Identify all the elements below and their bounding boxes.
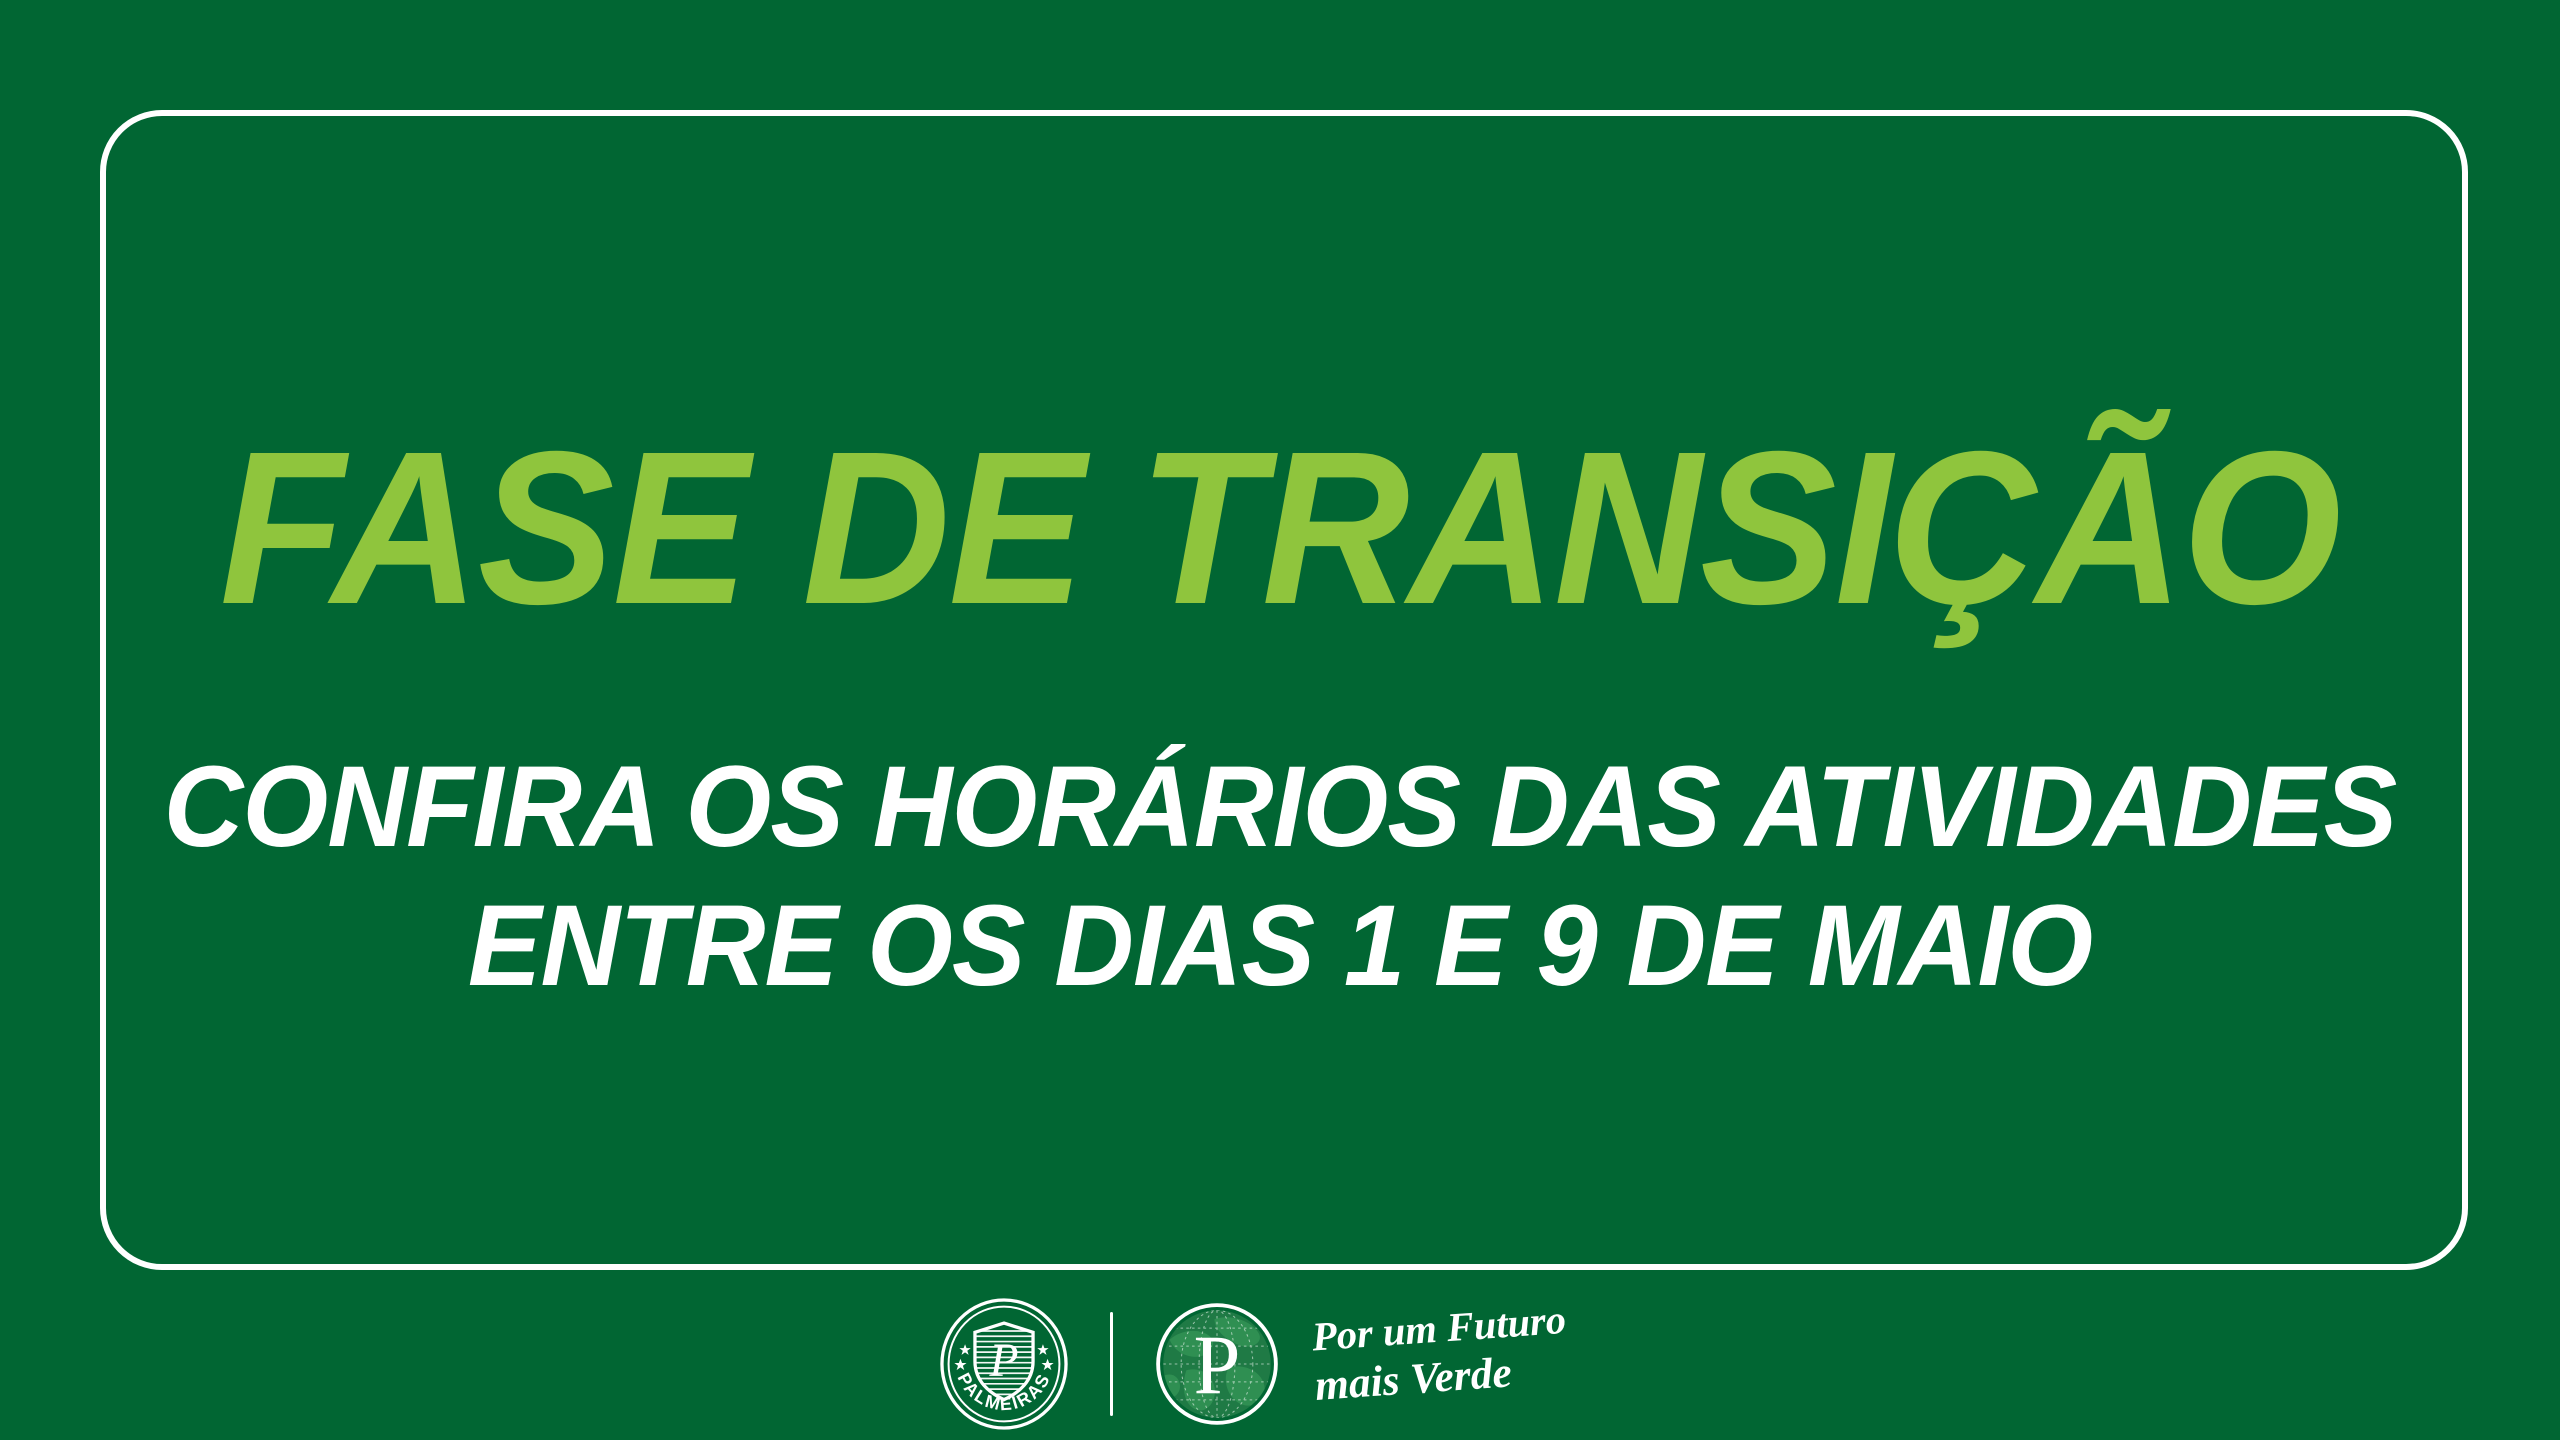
- poster-canvas: FASE DE TRANSIÇÃO CONFIRA OS HORÁRIOS DA…: [0, 0, 2560, 1440]
- tagline-script: Por um Futuro mais Verde: [1303, 1304, 1623, 1424]
- decorative-frame: [100, 110, 2468, 1270]
- subtitle-line-1: CONFIRA OS HORÁRIOS DAS ATIVIDADES: [51, 738, 2509, 877]
- globe-p-logo-icon: P: [1153, 1300, 1281, 1428]
- footer-logo-bar: P PALMEIRAS: [0, 1288, 2560, 1440]
- palmeiras-crest-icon: P PALMEIRAS: [938, 1298, 1070, 1430]
- subtitle-line-2: ENTRE OS DIAS 1 E 9 DE MAIO: [51, 877, 2509, 1016]
- headline-container: FASE DE TRANSIÇÃO: [0, 425, 2560, 632]
- footer-divider: [1110, 1312, 1113, 1416]
- tagline-line-1: Por um Futuro: [1309, 1304, 1567, 1360]
- globe-monogram: P: [1193, 1319, 1240, 1412]
- subtitle-container: CONFIRA OS HORÁRIOS DAS ATIVIDADES ENTRE…: [0, 738, 2560, 1016]
- svg-text:P: P: [988, 1335, 1018, 1387]
- headline-text: FASE DE TRANSIÇÃO: [220, 425, 2340, 632]
- tagline-line-2: mais Verde: [1313, 1348, 1513, 1410]
